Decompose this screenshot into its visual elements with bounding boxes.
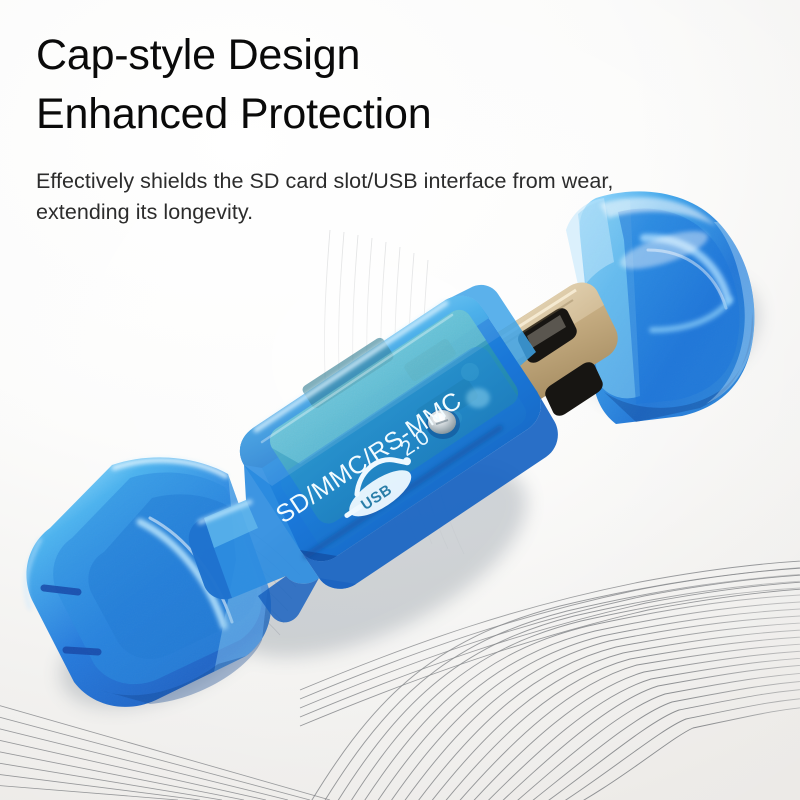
product-banner: SD/MMC/RS-MMC USB 2.0 xyxy=(0,0,800,800)
headline-line-1: Cap-style Design xyxy=(36,26,696,85)
description-line-1: Effectively shields the SD card slot/USB… xyxy=(36,169,613,193)
wave-line-bundle xyxy=(300,566,800,800)
marketing-copy: Cap-style Design Enhanced Protection Eff… xyxy=(36,26,696,228)
left-cap-line-fan xyxy=(90,470,300,635)
headline-line-2: Enhanced Protection xyxy=(36,85,696,144)
upper-left-line-fan xyxy=(324,230,464,554)
description-text: Effectively shields the SD card slot/USB… xyxy=(36,166,616,228)
description-line-2: extending its longevity. xyxy=(36,200,253,224)
bottom-left-line-bundle xyxy=(0,700,330,800)
